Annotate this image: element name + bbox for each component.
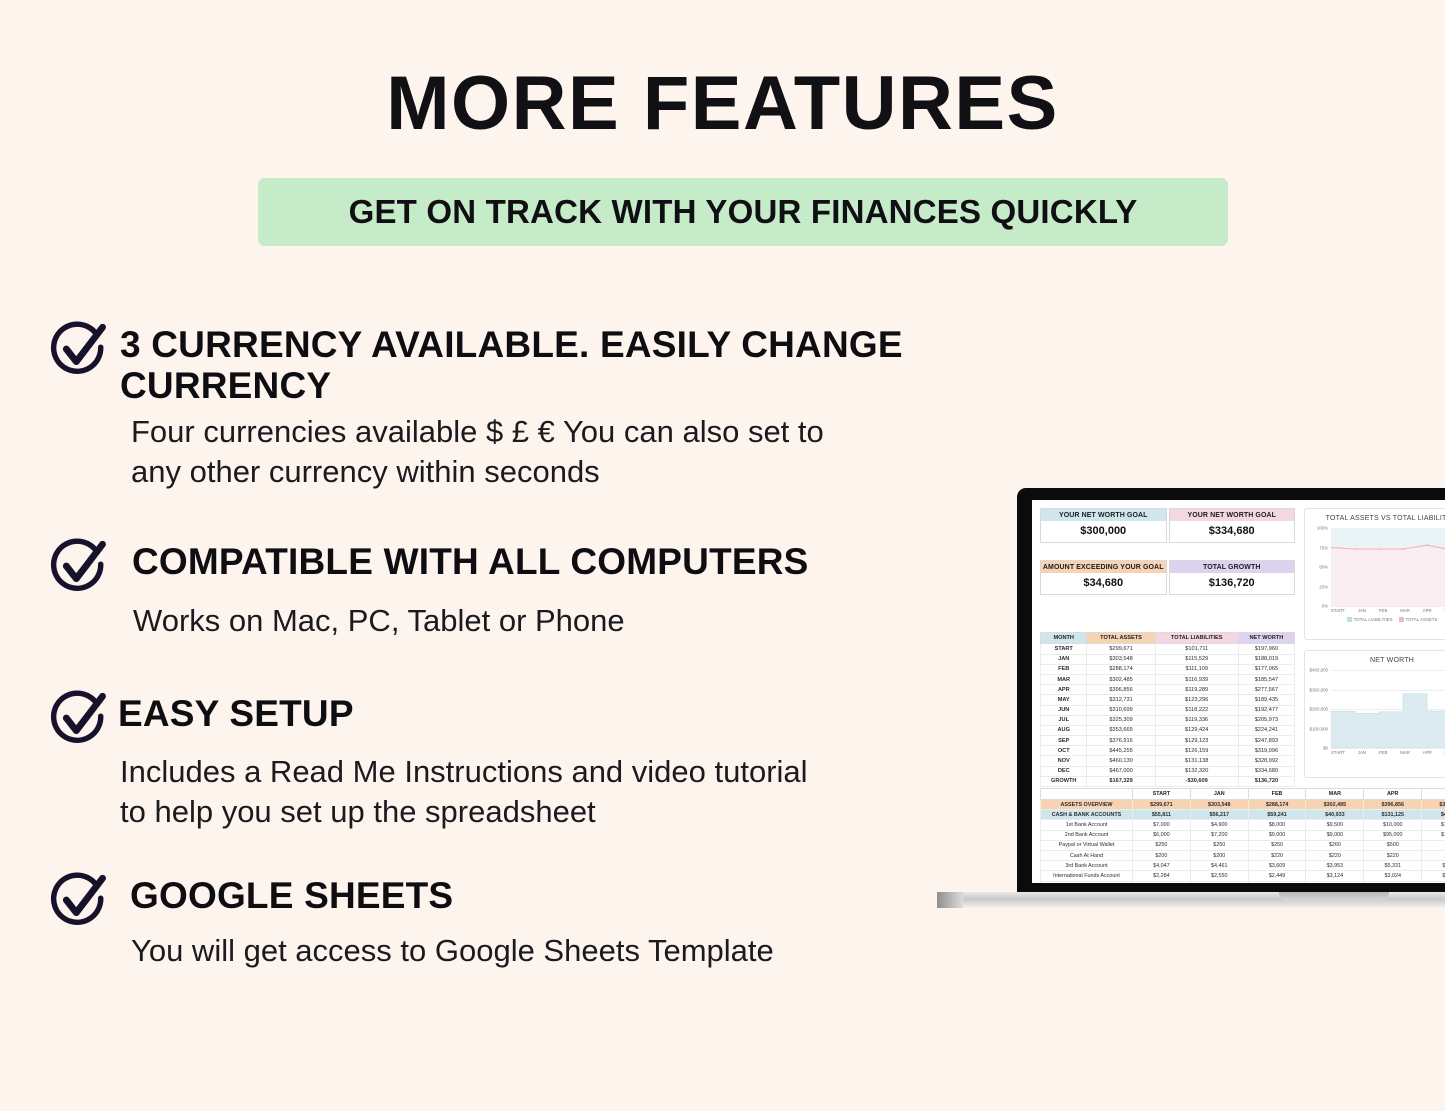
kpi-card-total-growth: TOTAL GROWTH $136,720 (1169, 560, 1296, 595)
cell-value: $277,567 (1238, 685, 1294, 695)
cell-value: $188,019 (1238, 654, 1294, 664)
subtitle-text: GET ON TRACK WITH YOUR FINANCES QUICKLY (349, 193, 1138, 231)
cell-value: $185,547 (1238, 674, 1294, 684)
row-label: Paypal or Virtual Wallet (1041, 840, 1133, 850)
x-tick-label: JAN (1358, 608, 1366, 613)
row-label: MAY (1041, 695, 1087, 705)
table-row: Paypal or Virtual Wallet$250$250$250$260… (1041, 840, 1445, 850)
kpi-label: YOUR NET WORTH GOAL (1170, 509, 1295, 521)
kpi-label: YOUR NET WORTH GOAL (1041, 509, 1166, 521)
cell-value: $126,159 (1155, 746, 1238, 756)
column-header: FEB (1248, 789, 1306, 800)
laptop-screen: YOUR NET WORTH GOAL $300,000 YOUR NET WO… (1032, 500, 1445, 883)
cell-value: $3,213 (1422, 871, 1445, 881)
feature-description: You will get access to Google Sheets Tem… (131, 931, 1000, 971)
cell-value: $119,336 (1155, 715, 1238, 725)
cell-value: $131,138 (1155, 756, 1238, 766)
table-row: JUL$325,309$119,336$205,973 (1041, 715, 1295, 725)
cell-value: $13,000 (1422, 820, 1445, 830)
month-summary-table: MONTHTOTAL ASSETSTOTAL LIABILITIESNET WO… (1040, 632, 1295, 787)
column-header: TOTAL LIABILITIES (1155, 633, 1238, 644)
feature-title: 3 CURRENCY AVAILABLE. EASILY CHANGE CURR… (120, 318, 1000, 407)
page-title: MORE FEATURES (0, 66, 1445, 142)
feature-item-compatible: COMPATIBLE WITH ALL COMPUTERS Works on M… (0, 535, 1000, 641)
column-header: TOTAL ASSETS (1087, 633, 1155, 644)
feature-title: GOOGLE SHEETS (130, 869, 453, 916)
table-row: MAR$302,485$116,939$185,547 (1041, 674, 1295, 684)
feature-description: Four currencies available $ £ € You can … (131, 412, 1000, 491)
cell-value: $302,485 (1306, 800, 1364, 810)
cell-value: $2,550 (1190, 871, 1248, 881)
kpi-card-amount-exceeding: AMOUNT EXCEEDING YOUR GOAL $34,680 (1040, 560, 1167, 595)
table-row: ASSETS OVERVIEW$299,671$303,548$288,174$… (1041, 800, 1445, 810)
y-tick-label: $400,000 (1310, 668, 1328, 673)
column-header: MAR (1306, 789, 1364, 800)
cell-value: $460,130 (1087, 756, 1155, 766)
feature-item-easy-setup: EASY SETUP Includes a Read Me Instructio… (0, 687, 1000, 831)
row-label: Cash At Hand (1041, 850, 1133, 860)
cell-value: $55,811 (1133, 810, 1191, 820)
legend-swatch (1399, 617, 1404, 622)
row-label: AUG (1041, 725, 1087, 735)
row-label: APR (1041, 685, 1087, 695)
cell-value: $119,289 (1155, 685, 1238, 695)
legend-swatch (1347, 617, 1352, 622)
cell-value: $111,109 (1155, 664, 1238, 674)
cell-value: $220 (1364, 850, 1422, 860)
x-tick-label: JAN (1358, 750, 1366, 755)
table-row: International Funds Account$2,284$2,550$… (1041, 871, 1445, 881)
spreadsheet-view: YOUR NET WORTH GOAL $300,000 YOUR NET WO… (1032, 500, 1445, 883)
cell-value: $131,125 (1364, 810, 1422, 820)
cell-value: $325,309 (1087, 715, 1155, 725)
cell-value: $205,973 (1238, 715, 1294, 725)
table-row: SEP$376,916$129,123$247,893 (1041, 736, 1295, 746)
check-circle-icon (50, 871, 108, 929)
table-row: FEB$288,174$111,109$177,065 (1041, 664, 1295, 674)
y-tick-label: 50% (1319, 565, 1328, 570)
cell-value: $4,579 (1306, 881, 1364, 883)
feature-title: COMPATIBLE WITH ALL COMPUTERS (132, 535, 809, 582)
cell-value: $310,699 (1087, 705, 1155, 715)
cell-value: $353,665 (1087, 725, 1155, 735)
row-label: International Funds Account (1041, 871, 1133, 881)
chart-series-group (1331, 670, 1445, 748)
cell-value: $299,671 (1087, 644, 1155, 654)
table-row: NOV$460,130$131,138$328,992 (1041, 756, 1295, 766)
legend-item: TOTAL ASSETS (1399, 617, 1438, 622)
cell-value: $59,241 (1248, 810, 1306, 820)
cell-value: $40,933 (1306, 810, 1364, 820)
y-tick-label: 25% (1319, 584, 1328, 589)
feature-title: EASY SETUP (118, 687, 354, 734)
row-label: NOV (1041, 756, 1087, 766)
x-tick-label: START (1331, 608, 1345, 613)
cell-value: $167,329 (1087, 776, 1155, 786)
table-row: AUG$353,665$129,424$224,241 (1041, 725, 1295, 735)
row-label: 2nd Bank Account (1041, 830, 1133, 840)
kpi-value: $300,000 (1041, 521, 1166, 542)
cell-value: $7,000 (1133, 820, 1191, 830)
cell-value: $4,900 (1190, 820, 1248, 830)
cell-value: $312,731 (1422, 800, 1445, 810)
cell-value: $3,963 (1422, 861, 1445, 871)
table-row: DEC$467,000$132,320$334,680 (1041, 766, 1295, 776)
poster-canvas: MORE FEATURES GET ON TRACK WITH YOUR FIN… (0, 0, 1445, 1111)
cell-value: $200 (1190, 850, 1248, 860)
table-row: JUN$310,699$118,222$192,477 (1041, 705, 1295, 715)
check-circle-icon (50, 320, 108, 378)
cell-value: $376,916 (1087, 736, 1155, 746)
cell-value: -$30,609 (1155, 776, 1238, 786)
cell-value: $101,711 (1155, 644, 1238, 654)
cell-value: $136,720 (1238, 776, 1294, 786)
chart-plot-area: $400,000$300,000$200,000$100,000$0 (1331, 670, 1445, 748)
cell-value: $5,331 (1364, 861, 1422, 871)
cell-value: $7,346 (1422, 881, 1445, 883)
kpi-section: YOUR NET WORTH GOAL $300,000 YOUR NET WO… (1040, 508, 1295, 598)
cell-value: $3,124 (1306, 871, 1364, 881)
kpi-row-1: YOUR NET WORTH GOAL $300,000 YOUR NET WO… (1040, 508, 1295, 543)
cell-value: $7,200 (1190, 830, 1248, 840)
x-tick-label: MAR (1400, 750, 1410, 755)
column-header: START (1133, 789, 1191, 800)
row-label: CASH & BANK ACCOUNTS (1041, 810, 1133, 820)
cell-value: $2,284 (1133, 871, 1191, 881)
cell-value: $328,992 (1238, 756, 1294, 766)
table-header-row: STARTJANFEBMARAPRMAY (1041, 789, 1445, 800)
subtitle-banner: GET ON TRACK WITH YOUR FINANCES QUICKLY (258, 178, 1228, 246)
y-tick-label: 0% (1322, 604, 1328, 609)
chart-x-axis: STARTJANFEBMARAPRMAYJUN (1331, 750, 1445, 755)
chart-plot-area: 100%75%50%25%0% (1331, 528, 1445, 606)
row-label: MAR (1041, 674, 1087, 684)
row-label: DEC (1041, 766, 1087, 776)
y-tick-label: 100% (1317, 526, 1328, 531)
cell-value: $10,000 (1364, 820, 1422, 830)
cell-value: $7,515 (1133, 881, 1191, 883)
kpi-label: AMOUNT EXCEEDING YOUR GOAL (1041, 561, 1166, 573)
cell-value: $303,548 (1190, 800, 1248, 810)
table-row: 3rd Bank Account$4,047$4,461$3,609$3,953… (1041, 861, 1445, 871)
cell-value: $197,960 (1238, 644, 1294, 654)
cell-value: $334,680 (1238, 766, 1294, 776)
table-row: GROWTH$167,329-$30,609$136,720 (1041, 776, 1295, 786)
cell-value: $396,856 (1364, 800, 1422, 810)
table-row: 1st Bank Account$7,000$4,900$8,000$9,500… (1041, 820, 1445, 830)
laptop-trackpad-notch (1279, 892, 1389, 901)
row-label: JUN (1041, 705, 1087, 715)
cell-value: $189,435 (1238, 695, 1294, 705)
y-tick-label: $300,000 (1310, 687, 1328, 692)
table-row: APR$396,856$119,289$277,567 (1041, 685, 1295, 695)
row-label: 1st Bank Account (1041, 820, 1133, 830)
chart-x-axis: STARTJANFEBMARAPRMAYJUN (1331, 608, 1445, 613)
cell-value: $445,255 (1087, 746, 1155, 756)
kpi-card-net-worth-goal: YOUR NET WORTH GOAL $300,000 (1040, 508, 1167, 543)
laptop-base-edge (937, 892, 963, 908)
table-row: OCT$445,255$126,159$319,096 (1041, 746, 1295, 756)
cell-value: $312,731 (1087, 695, 1155, 705)
cell-value: $123,296 (1155, 695, 1238, 705)
cell-value: $500 (1364, 840, 1422, 850)
cell-value: $129,123 (1155, 736, 1238, 746)
cell-value: $340 (1422, 840, 1445, 850)
cell-value: $288,174 (1087, 664, 1155, 674)
table-row: START$299,671$101,711$197,960 (1041, 644, 1295, 654)
feature-description: Includes a Read Me Instructions and vide… (120, 752, 1000, 831)
cell-value: $7,371 (1364, 881, 1422, 883)
cell-value: $288,174 (1248, 800, 1306, 810)
cell-value: $9,500 (1306, 820, 1364, 830)
cell-value: $6,303 (1190, 881, 1248, 883)
table-row: CASH & BANK ACCOUNTS$55,811$56,217$59,24… (1041, 810, 1445, 820)
table-row: Business Account 1$7,515$6,303$5,029$4,5… (1041, 881, 1445, 883)
laptop-mockup: YOUR NET WORTH GOAL $300,000 YOUR NET WO… (1017, 488, 1445, 924)
y-tick-label: $0 (1323, 746, 1328, 751)
cell-value: $299,671 (1133, 800, 1191, 810)
cell-value: $224,241 (1238, 725, 1294, 735)
cell-value: $129,424 (1155, 725, 1238, 735)
feature-item-currency: 3 CURRENCY AVAILABLE. EASILY CHANGE CURR… (0, 318, 1000, 491)
kpi-value: $136,720 (1170, 573, 1295, 594)
assets-vs-liabilities-chart: TOTAL ASSETS VS TOTAL LIABILITIES 100%75… (1304, 508, 1445, 640)
row-label: OCT (1041, 746, 1087, 756)
row-label: SEP (1041, 736, 1087, 746)
cell-value: $220 (1306, 850, 1364, 860)
cell-value: $260 (1306, 840, 1364, 850)
kpi-value: $34,680 (1041, 573, 1166, 594)
table-body: ASSETS OVERVIEW$299,671$303,548$288,174$… (1041, 800, 1445, 884)
cell-value: $250 (1190, 840, 1248, 850)
row-label: FEB (1041, 664, 1087, 674)
column-header (1041, 789, 1133, 800)
legend-item: TOTAL LIABILITIES (1347, 617, 1393, 622)
column-header: JAN (1190, 789, 1248, 800)
y-tick-label: $100,000 (1310, 726, 1328, 731)
row-label: START (1041, 644, 1087, 654)
cell-value: $192,477 (1238, 705, 1294, 715)
cell-value: $9,000 (1306, 830, 1364, 840)
feature-list: 3 CURRENCY AVAILABLE. EASILY CHANGE CURR… (0, 318, 1000, 977)
cell-value: $56,217 (1190, 810, 1248, 820)
cell-value: $132,320 (1155, 766, 1238, 776)
table-row: Cash At Hand$200$200$220$220$220$240 (1041, 850, 1445, 860)
cell-value: $319,096 (1238, 746, 1294, 756)
x-tick-label: APR (1423, 608, 1432, 613)
row-label: JUL (1041, 715, 1087, 725)
cell-value: $9,000 (1248, 830, 1306, 840)
column-header: APR (1364, 789, 1422, 800)
x-tick-label: FEB (1379, 608, 1388, 613)
cell-value: $220 (1248, 850, 1306, 860)
column-header: MONTH (1041, 633, 1087, 644)
kpi-value: $334,680 (1170, 521, 1295, 542)
kpi-row-2: AMOUNT EXCEEDING YOUR GOAL $34,680 TOTAL… (1040, 560, 1295, 595)
x-tick-label: FEB (1379, 750, 1388, 755)
cell-value: $240 (1422, 850, 1445, 860)
cell-value: $3,024 (1364, 871, 1422, 881)
cell-value: $49,806 (1422, 810, 1445, 820)
table-body: START$299,671$101,711$197,960JAN$303,548… (1041, 644, 1295, 787)
chart-title: TOTAL ASSETS VS TOTAL LIABILITIES (1305, 509, 1445, 522)
y-tick-label: $200,000 (1310, 707, 1328, 712)
x-tick-label: START (1331, 750, 1345, 755)
row-label: GROWTH (1041, 776, 1087, 786)
cell-value: $250 (1248, 840, 1306, 850)
table-row: JAN$303,548$115,529$188,019 (1041, 654, 1295, 664)
row-label: Business Account 1 (1041, 881, 1133, 883)
cell-value: $250 (1133, 840, 1191, 850)
chart-title: NET WORTH (1305, 651, 1445, 664)
cell-value: $302,485 (1087, 674, 1155, 684)
row-label: 3rd Bank Account (1041, 861, 1133, 871)
gridline (1331, 748, 1445, 749)
x-tick-label: MAR (1400, 608, 1410, 613)
y-tick-label: 75% (1319, 545, 1328, 550)
cell-value: $396,856 (1087, 685, 1155, 695)
kpi-card-net-worth-actual: YOUR NET WORTH GOAL $334,680 (1169, 508, 1296, 543)
chart-legend: TOTAL LIABILITIESTOTAL ASSETS (1305, 617, 1445, 622)
feature-item-google-sheets: GOOGLE SHEETS You will get access to Goo… (0, 869, 1000, 971)
row-label: JAN (1041, 654, 1087, 664)
column-header: MAY (1422, 789, 1445, 800)
chart-series-group (1331, 528, 1445, 606)
column-header: NET WORTH (1238, 633, 1294, 644)
cell-value: $8,000 (1248, 820, 1306, 830)
cell-value: $3,609 (1248, 861, 1306, 871)
cell-value: $5,029 (1248, 881, 1306, 883)
cell-value: $4,461 (1190, 861, 1248, 871)
cell-value: $115,529 (1155, 654, 1238, 664)
table-header-row: MONTHTOTAL ASSETSTOTAL LIABILITIESNET WO… (1041, 633, 1295, 644)
cell-value: $200 (1133, 850, 1191, 860)
gridline (1331, 606, 1445, 607)
assets-overview-table: STARTJANFEBMARAPRMAY ASSETS OVERVIEW$299… (1040, 788, 1445, 883)
cell-value: $118,222 (1155, 705, 1238, 715)
cell-value: $303,548 (1087, 654, 1155, 664)
cell-value: $3,953 (1306, 861, 1364, 871)
cell-value: $116,939 (1155, 674, 1238, 684)
table-row: 2nd Bank Account$6,000$7,200$9,000$9,000… (1041, 830, 1445, 840)
table-row: MAY$312,731$123,296$189,435 (1041, 695, 1295, 705)
check-circle-icon (50, 537, 108, 595)
cell-value: $467,000 (1087, 766, 1155, 776)
x-tick-label: APR (1423, 750, 1432, 755)
cell-value: $247,893 (1238, 736, 1294, 746)
cell-value: $2,449 (1248, 871, 1306, 881)
cell-value: $6,000 (1133, 830, 1191, 840)
feature-description: Works on Mac, PC, Tablet or Phone (133, 601, 1000, 641)
cell-value: $95,000 (1364, 830, 1422, 840)
row-label: ASSETS OVERVIEW (1041, 800, 1133, 810)
kpi-label: TOTAL GROWTH (1170, 561, 1295, 573)
cell-value: $11,000 (1422, 830, 1445, 840)
net-worth-chart: NET WORTH $400,000$300,000$200,000$100,0… (1304, 650, 1445, 778)
kpi-spacer (1040, 546, 1295, 560)
check-circle-icon (50, 689, 108, 747)
cell-value: $4,047 (1133, 861, 1191, 871)
cell-value: $177,065 (1238, 664, 1294, 674)
